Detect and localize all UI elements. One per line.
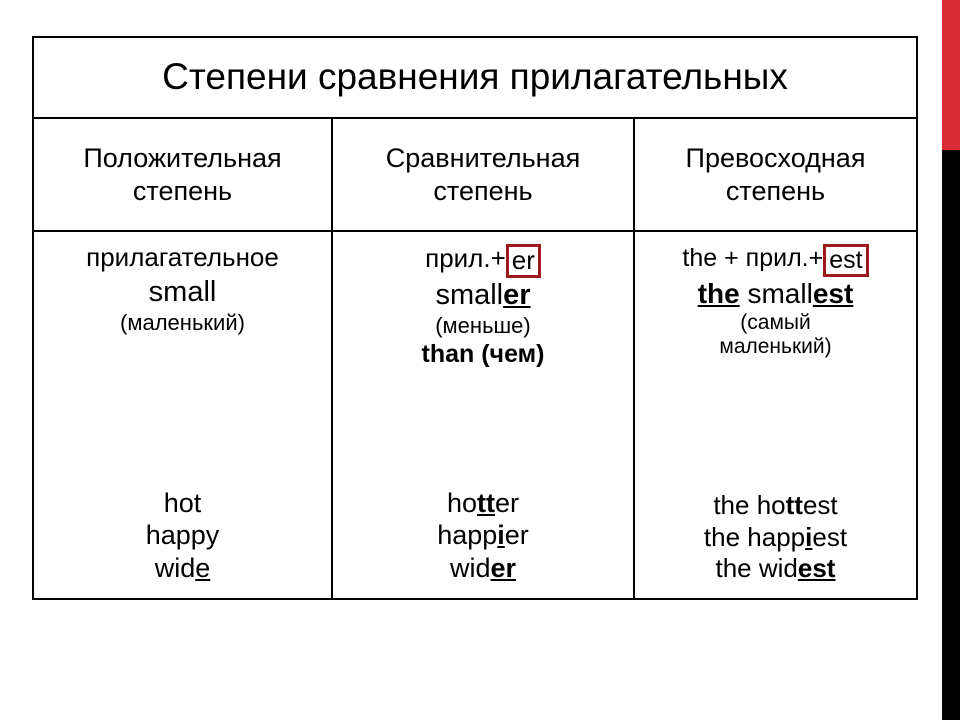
header-superlative-line2: степень	[686, 175, 866, 208]
column-header-positive: Положительная степень	[34, 119, 331, 230]
superlative-example-3-lead: the wid	[716, 553, 798, 583]
comparative-examples-block: hotter happier wider	[437, 487, 529, 598]
positive-example-word: small	[86, 275, 279, 310]
table-header-row: Положительная степень Сравнительная степ…	[34, 119, 916, 232]
comparison-degrees-table: Степени сравнения прилагательных Положит…	[32, 36, 918, 600]
comparative-example-3-ending: er	[490, 553, 516, 583]
cell-positive-degree: прилагательное small (маленький) hot hap…	[34, 232, 331, 598]
superlative-translation-line2: маленький)	[682, 335, 868, 359]
comparative-suffix-highlight-box: er	[506, 244, 541, 278]
header-superlative-line1: Превосходная	[686, 142, 866, 175]
comparative-word-stem: small	[435, 279, 503, 311]
superlative-formula: the + прил.+est	[682, 242, 868, 275]
header-comparative-line2: степень	[386, 175, 580, 208]
cell-comparative-degree: прил.+er smaller (меньше) than (чем) hot…	[331, 232, 635, 598]
positive-example-3-stem: wid	[155, 553, 196, 583]
superlative-word-ending: est	[813, 278, 853, 309]
comparative-formula: прил.+er	[422, 242, 545, 276]
superlative-formula-prefix: the + прил.+	[682, 244, 823, 272]
superlative-example-2-tail: est	[812, 522, 847, 552]
column-header-comparative: Сравнительная степень	[331, 119, 635, 230]
superlative-translation-line1: (самый	[682, 311, 868, 335]
positive-word-stem: small	[149, 276, 217, 308]
comparative-example-1-stem: ho	[447, 488, 477, 518]
superlative-suffix-highlight-box: est	[823, 244, 868, 277]
cell-superlative-degree: the + прил.+est the smallest (самый мале…	[635, 232, 916, 598]
page-title: Степени сравнения прилагательных	[162, 58, 788, 97]
superlative-example-3: the widest	[704, 553, 847, 584]
superlative-example-3-ending: est	[798, 553, 836, 583]
column-header-superlative: Превосходная степень	[635, 119, 916, 230]
black-accent-bar	[942, 150, 960, 720]
comparative-example-1-doubled: tt	[477, 488, 495, 518]
comparative-than-note: than (чем)	[422, 339, 545, 369]
comparative-example-1: hotter	[437, 487, 529, 519]
superlative-examples-block: the hottest the happiest the widest	[704, 490, 847, 598]
comparative-example-word: smaller	[422, 278, 545, 313]
header-positive-line1: Положительная	[83, 142, 281, 175]
positive-rule-block: прилагательное small (маленький)	[86, 242, 279, 336]
table-title-row: Степени сравнения прилагательных	[34, 38, 916, 119]
superlative-rule-block: the + прил.+est the smallest (самый мале…	[682, 242, 868, 359]
comparative-translation: (меньше)	[422, 313, 545, 339]
comparative-example-1-tail: er	[495, 488, 519, 518]
superlative-word-stem: small	[747, 278, 812, 309]
superlative-example-1-doubled: tt	[786, 490, 803, 520]
comparative-formula-prefix: прил.+	[425, 243, 506, 273]
table-body-row: прилагательное small (маленький) hot hap…	[34, 232, 916, 598]
positive-example-3-ending: e	[195, 553, 210, 583]
superlative-example-1-tail: est	[803, 490, 838, 520]
positive-translation: (маленький)	[86, 310, 279, 336]
comparative-example-2-changed: i	[497, 520, 505, 550]
comparative-rule-block: прил.+er smaller (меньше) than (чем)	[422, 242, 545, 369]
red-accent-bar	[942, 0, 960, 150]
right-edge-decoration	[942, 0, 960, 720]
superlative-example-1: the hottest	[704, 490, 847, 521]
superlative-word-article: the	[698, 278, 740, 309]
comparative-example-2: happier	[437, 519, 529, 551]
comparative-example-2-stem: happ	[437, 520, 497, 550]
comparative-example-3-stem: wid	[450, 553, 491, 583]
positive-examples-block: hot happy wide	[146, 487, 220, 598]
superlative-example-word: the smallest	[682, 277, 868, 311]
positive-formula: прилагательное	[86, 242, 279, 273]
header-comparative-line1: Сравнительная	[386, 142, 580, 175]
positive-example-2: happy	[146, 519, 220, 551]
positive-example-1: hot	[146, 487, 220, 519]
comparative-example-2-tail: er	[505, 520, 529, 550]
comparative-word-ending: er	[503, 279, 530, 311]
header-positive-line2: степень	[83, 175, 281, 208]
positive-formula-text: прилагательное	[86, 242, 279, 272]
positive-example-3: wide	[146, 552, 220, 584]
superlative-example-2-lead: the happ	[704, 522, 805, 552]
superlative-example-2: the happiest	[704, 522, 847, 553]
comparative-example-3: wider	[437, 552, 529, 584]
superlative-example-1-lead: the ho	[713, 490, 785, 520]
